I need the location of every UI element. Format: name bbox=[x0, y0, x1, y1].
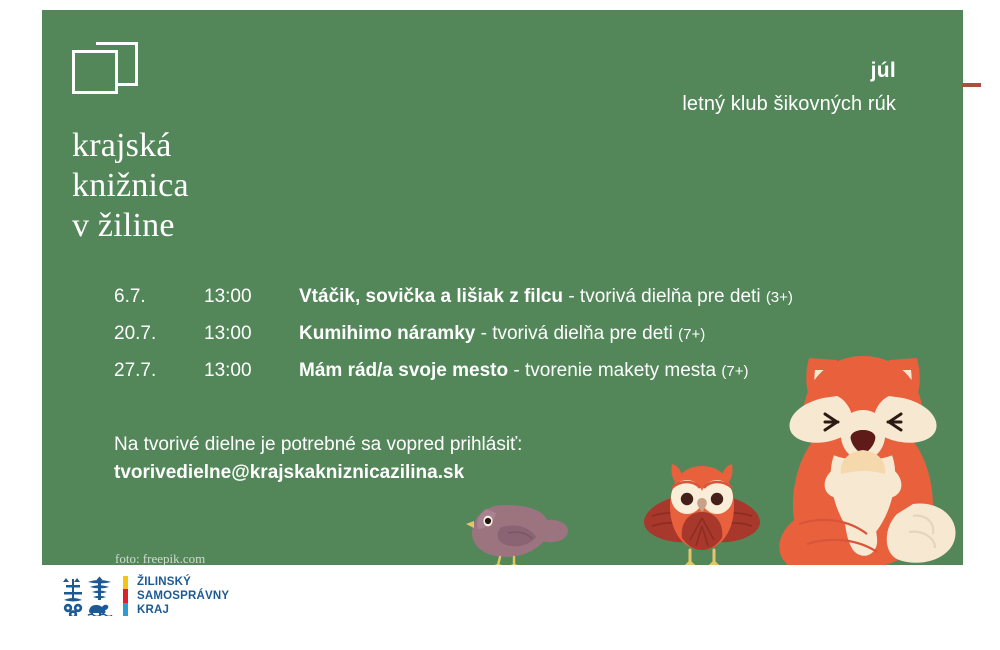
zsk-line-2: SAMOSPRÁVNY bbox=[137, 589, 229, 603]
zsk-logo: ŽILINSKÝ SAMOSPRÁVNY KRAJ bbox=[62, 575, 229, 617]
logo-square-front bbox=[72, 50, 118, 94]
green-background-panel: krajská knižnica v žiline júl letný klub… bbox=[42, 10, 963, 565]
owl-illustration bbox=[642, 454, 762, 565]
series-subtitle: letný klub šikovných rúk bbox=[682, 90, 896, 118]
event-date: 27.7. bbox=[114, 360, 204, 382]
event-date: 6.7. bbox=[114, 286, 204, 308]
event-time: 13:00 bbox=[204, 286, 299, 308]
event-list: 6.7. 13:00 Vtáčik, sovička a lišiak z fi… bbox=[114, 286, 914, 397]
library-name-line-1: krajská bbox=[72, 126, 189, 166]
event-time: 13:00 bbox=[204, 323, 299, 345]
zsk-line-1: ŽILINSKÝ bbox=[137, 575, 229, 589]
accent-rule bbox=[962, 83, 981, 87]
zsk-heraldry-icon bbox=[62, 576, 114, 616]
signup-block: Na tvorivé dielne je potrebné sa vopred … bbox=[114, 431, 522, 487]
footer-bar: ŽILINSKÝ SAMOSPRÁVNY KRAJ Zmena programu… bbox=[0, 565, 1000, 650]
header-right-block: júl letný klub šikovných rúk bbox=[682, 58, 896, 118]
event-subtitle: - tvorivá dielňa pre deti bbox=[481, 323, 679, 344]
event-description: Mám rád/a svoje mesto - tvorenie makety … bbox=[299, 360, 914, 382]
library-logo-mark bbox=[72, 50, 138, 94]
event-title: Mám rád/a svoje mesto bbox=[299, 360, 508, 381]
signup-email[interactable]: tvorivedielne@krajskakniznicazilina.sk bbox=[114, 459, 522, 487]
event-description: Vtáčik, sovička a lišiak z filcu - tvori… bbox=[299, 286, 914, 308]
event-date: 20.7. bbox=[114, 323, 204, 345]
event-age: (7+) bbox=[721, 363, 748, 380]
zsk-wordmark: ŽILINSKÝ SAMOSPRÁVNY KRAJ bbox=[137, 575, 229, 617]
event-age: (3+) bbox=[766, 289, 793, 306]
poster-canvas: krajská knižnica v žiline júl letný klub… bbox=[0, 0, 1000, 650]
event-subtitle: - tvorenie makety mesta bbox=[508, 360, 721, 381]
event-row: 27.7. 13:00 Mám rád/a svoje mesto - tvor… bbox=[114, 360, 914, 397]
event-age: (7+) bbox=[678, 326, 705, 343]
library-name-line-3: v žiline bbox=[72, 206, 189, 246]
event-title: Kumihimo náramky bbox=[299, 323, 481, 344]
photo-credit: foto: freepik.com bbox=[115, 551, 205, 565]
library-brand-block: krajská knižnica v žiline bbox=[72, 50, 189, 246]
signup-instruction: Na tvorivé dielne je potrebné sa vopred … bbox=[114, 431, 522, 459]
zsk-line-3: KRAJ bbox=[137, 603, 229, 617]
month-title: júl bbox=[682, 58, 896, 84]
library-name: krajská knižnica v žiline bbox=[72, 126, 189, 246]
event-row: 20.7. 13:00 Kumihimo náramky - tvorivá d… bbox=[114, 323, 914, 360]
bird-illustration bbox=[466, 499, 571, 565]
event-time: 13:00 bbox=[204, 360, 299, 382]
event-description: Kumihimo náramky - tvorivá dielňa pre de… bbox=[299, 323, 914, 345]
event-row: 6.7. 13:00 Vtáčik, sovička a lišiak z fi… bbox=[114, 286, 914, 323]
library-name-line-2: knižnica bbox=[72, 166, 189, 206]
event-subtitle: - tvorivá dielňa pre deti bbox=[563, 286, 766, 307]
event-title: Vtáčik, sovička a lišiak z filcu bbox=[299, 286, 563, 307]
zsk-color-bar bbox=[123, 576, 128, 616]
